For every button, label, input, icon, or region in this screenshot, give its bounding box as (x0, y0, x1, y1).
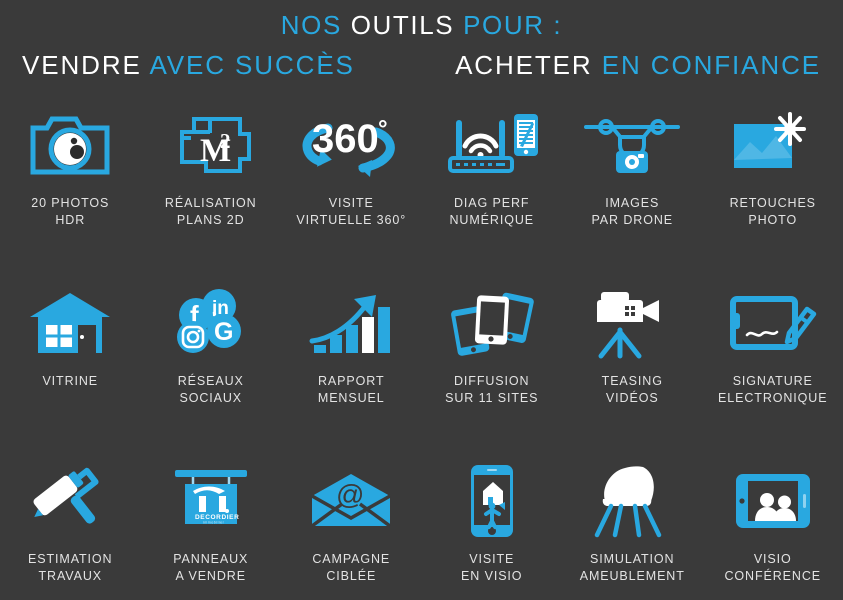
floorplan-m2-icon: M 2 (170, 104, 252, 186)
grid-item-label: CAMPAGNE CIBLÉE (312, 551, 390, 584)
grid-item-label: ESTIMATION TRAVAUX (28, 551, 112, 584)
tour-degree: ° (378, 116, 388, 143)
page-title: NOS OUTILS POUR : (0, 11, 843, 41)
grid-item-vitrine[interactable]: VITRINE (0, 282, 141, 460)
grid-item-label: RÉSEAUX SOCIAUX (178, 373, 244, 406)
grid-item-diffusion-sites[interactable]: DIFFUSION SUR 11 SITES (422, 282, 563, 460)
grid-item-label: SIMULATION AMEUBLEMENT (580, 551, 685, 584)
grid-item-label: TEASING VIDÉOS (602, 373, 663, 406)
virtual-tour-360-icon: 360 ° (298, 104, 404, 186)
subtitle-row: VENDRE AVEC SUCCÈS ACHETER EN CONFIANCE (0, 50, 843, 81)
chair-icon (591, 460, 673, 542)
shop-window-icon (26, 282, 114, 364)
drone-icon (582, 104, 682, 186)
grid-item-label: RÉALISATION PLANS 2D (165, 195, 257, 228)
photo-retouch-icon (728, 104, 818, 186)
grid-item-visite-360[interactable]: 360 ° VISITE VIRTUELLE 360° (281, 104, 422, 282)
video-camera-icon (589, 282, 675, 364)
grid-item-teasing-videos[interactable]: TEASING VIDÉOS (562, 282, 703, 460)
header: NOS OUTILS POUR : VENDRE AVEC SUCCÈS ACH… (0, 0, 843, 81)
video-conference-icon (732, 460, 814, 542)
at-glyph: @ (336, 479, 364, 510)
google-glyph: G (214, 318, 233, 346)
grid-item-label: SIGNATURE ELECTRONIQUE (718, 373, 827, 406)
grid-item-label: VISITE EN VISIO (461, 551, 522, 584)
grid-item-estimation-travaux[interactable]: ESTIMATION TRAVAUX (0, 460, 141, 600)
tour-number: 360 (312, 117, 379, 161)
subtitle-left-vendre: VENDRE (22, 50, 149, 80)
grid-item-20-photos-hdr[interactable]: 20 PHOTOS HDR (0, 104, 141, 282)
subtitle-right-en-confiance: EN CONFIANCE (602, 50, 821, 80)
camera-icon (30, 104, 110, 186)
router-wifi-icon (444, 104, 540, 186)
grid-item-reseaux-sociaux[interactable]: in f G RÉSEAUX SOCIAUX (141, 282, 282, 460)
grid-item-rapport-mensuel[interactable]: RAPPORT MENSUEL (281, 282, 422, 460)
subtitle-left: VENDRE AVEC SUCCÈS (22, 50, 355, 81)
multi-devices-icon (446, 282, 538, 364)
grid-item-label: IMAGES PAR DRONE (592, 195, 674, 228)
grid-item-label: RAPPORT MENSUEL (318, 373, 385, 406)
tools-grid: 20 PHOTOS HDR M 2 RÉALISATION PLANS 2D (0, 104, 843, 600)
sign-sub-text: immobilier (203, 521, 225, 525)
e-signature-icon (727, 282, 819, 364)
m2-exponent: 2 (220, 129, 231, 153)
social-networks-icon: in f G (169, 282, 253, 364)
grid-item-label: 20 PHOTOS HDR (31, 195, 109, 228)
grid-item-images-drone[interactable]: IMAGES PAR DRONE (562, 104, 703, 282)
grid-item-plans-2d[interactable]: M 2 RÉALISATION PLANS 2D (141, 104, 282, 282)
grid-item-label: DIAG PERF NUMÉRIQUE (450, 195, 535, 228)
video-visit-phone-icon (463, 460, 521, 542)
grid-item-label: VISIO CONFÉRENCE (724, 551, 821, 584)
grid-item-retouches-photo[interactable]: RETOUCHES PHOTO (703, 104, 843, 282)
grid-item-diag-perf[interactable]: DIAG PERF NUMÉRIQUE (422, 104, 563, 282)
subtitle-right-acheter: ACHETER (455, 50, 602, 80)
subtitle-left-avec-succes: AVEC SUCCÈS (149, 50, 354, 80)
grid-item-panneaux-a-vendre[interactable]: DECORDIER immobilier PANNEAUX A VENDRE (141, 460, 282, 600)
grid-item-simulation-ameublement[interactable]: SIMULATION AMEUBLEMENT (562, 460, 703, 600)
title-part-outils: OUTILS (351, 10, 463, 40)
growth-chart-icon (308, 282, 394, 364)
grid-item-label: DIFFUSION SUR 11 SITES (445, 373, 538, 406)
grid-item-label: PANNEAUX A VENDRE (173, 551, 248, 584)
title-part-nos: NOS (281, 10, 351, 40)
grid-item-campagne-ciblee[interactable]: @ CAMPAGNE CIBLÉE (281, 460, 422, 600)
paint-roller-icon (27, 460, 113, 542)
email-campaign-icon: @ (306, 460, 396, 542)
grid-item-label: RETOUCHES PHOTO (730, 195, 816, 228)
title-part-pour: POUR : (463, 10, 562, 40)
poster-root: NOS OUTILS POUR : VENDRE AVEC SUCCÈS ACH… (0, 0, 843, 600)
for-sale-sign-icon: DECORDIER immobilier (169, 460, 253, 542)
grid-item-visite-en-visio[interactable]: VISITE EN VISIO (422, 460, 563, 600)
grid-item-visio-conference[interactable]: VISIO CONFÉRENCE (703, 460, 843, 600)
subtitle-right: ACHETER EN CONFIANCE (455, 50, 821, 81)
grid-item-label: VITRINE (42, 373, 98, 390)
grid-item-label: VISITE VIRTUELLE 360° (296, 195, 406, 228)
grid-item-signature-electronique[interactable]: SIGNATURE ELECTRONIQUE (703, 282, 843, 460)
